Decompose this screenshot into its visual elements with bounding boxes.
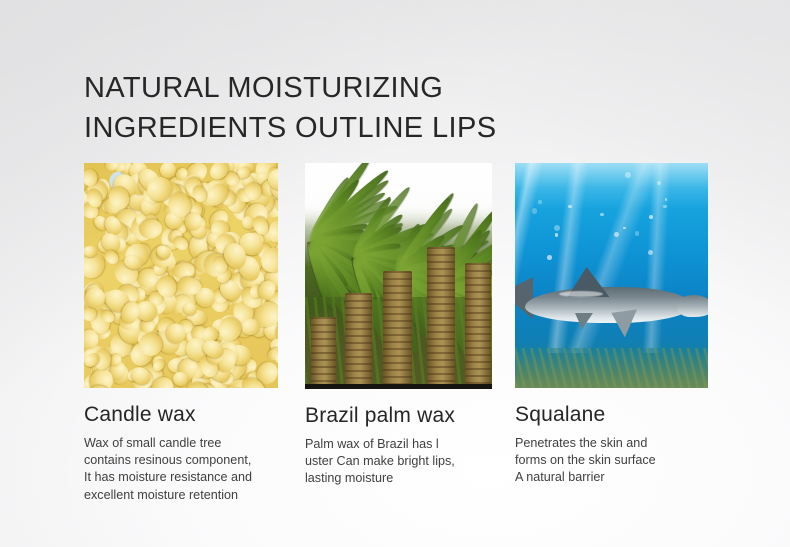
bubble — [665, 198, 667, 200]
beeswax-pellets-photo — [84, 163, 278, 388]
shark-pectoral-fin — [611, 309, 640, 338]
card-description: Wax of small candle tree contains resino… — [84, 435, 278, 504]
pellet-cluster — [84, 163, 278, 388]
seabed-region — [515, 348, 708, 388]
bubble — [649, 215, 653, 219]
bubble — [663, 205, 666, 208]
shark-figure — [517, 271, 703, 335]
shark-highlight — [559, 291, 603, 297]
bubble — [532, 208, 537, 213]
palm-trunk — [345, 293, 372, 389]
bubble — [538, 200, 541, 203]
palm-trunk — [311, 317, 336, 389]
bubble — [547, 255, 552, 260]
bubble — [600, 213, 603, 216]
poster-root: NATURAL MOISTURIZING INGREDIENTS OUTLINE… — [0, 0, 790, 547]
ingredient-card: Candle wax Wax of small candle tree cont… — [84, 163, 278, 504]
bubble — [635, 231, 640, 236]
shark-pelvic-fin — [575, 313, 593, 329]
shark-underwater-photo — [515, 163, 708, 388]
bubble — [555, 233, 558, 236]
ingredient-card: Squalane Penetrates the skin and forms o… — [515, 163, 708, 487]
card-description: Palm wax of Brazil has l uster Can make … — [305, 436, 505, 488]
page-title: NATURAL MOISTURIZING INGREDIENTS OUTLINE… — [84, 68, 496, 148]
photo-bottom-bar — [305, 384, 492, 389]
shark-snout — [677, 295, 708, 317]
palm-trees-photo — [305, 163, 492, 389]
bubble — [568, 205, 571, 208]
card-title: Brazil palm wax — [305, 403, 492, 429]
bubble — [623, 227, 625, 229]
card-title: Squalane — [515, 402, 708, 428]
ingredient-card: Brazil palm wax Palm wax of Brazil has l… — [305, 163, 492, 488]
palm-trunk — [383, 271, 412, 389]
palm-trunk — [465, 263, 491, 389]
card-title: Candle wax — [84, 402, 278, 428]
palm-trunk — [427, 247, 455, 389]
card-description: Penetrates the skin and forms on the ski… — [515, 435, 715, 487]
